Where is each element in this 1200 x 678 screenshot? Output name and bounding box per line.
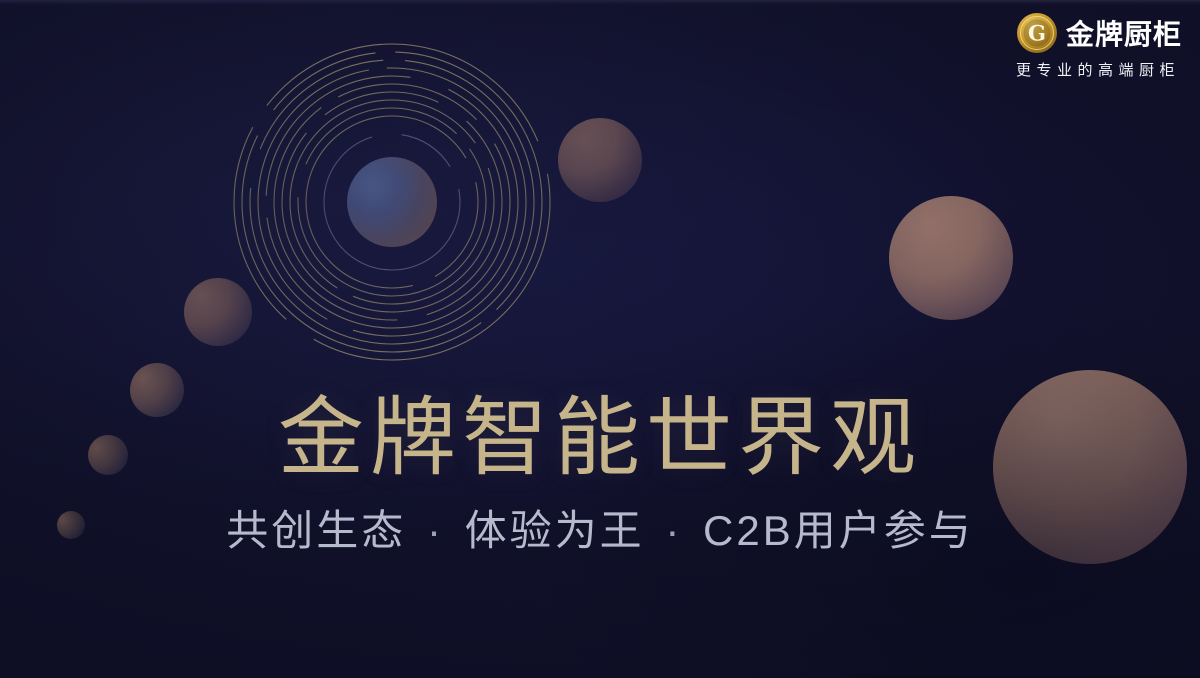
gold-circle-g-badge-icon: G bbox=[1016, 12, 1058, 54]
subtitle-separator-2: · bbox=[659, 507, 688, 554]
promo-banner: 金牌智能世界观 共创生态 · 体验为王 · C2B用户参与 bbox=[0, 0, 1200, 678]
concentric-dashed-rings-icon bbox=[232, 42, 552, 362]
sphere-top-center bbox=[558, 118, 642, 202]
brand-logo[interactable]: G 金牌厨柜 更专业的高端厨柜 bbox=[992, 10, 1182, 80]
brand-logo-row: G 金牌厨柜 bbox=[992, 10, 1182, 56]
sphere-right-upper bbox=[889, 196, 1013, 320]
brand-tagline: 更专业的高端厨柜 bbox=[992, 59, 1182, 80]
sphere-left-1 bbox=[184, 278, 252, 346]
subtitle-separator-1: · bbox=[421, 507, 450, 554]
hero-subtitle: 共创生态 · 体验为王 · C2B用户参与 bbox=[0, 507, 1200, 555]
subtitle-part-2: 体验为王 bbox=[465, 507, 645, 554]
page-title: 金牌智能世界观 bbox=[0, 392, 1200, 485]
brand-name: 金牌厨柜 bbox=[1066, 13, 1182, 53]
background-gradient bbox=[0, 0, 1200, 678]
top-light-band bbox=[0, 0, 1200, 5]
svg-text:G: G bbox=[1028, 21, 1046, 46]
subtitle-part-3: C2B用户参与 bbox=[703, 507, 974, 554]
subtitle-part-1: 共创生态 bbox=[226, 507, 406, 554]
hero-text-block: 金牌智能世界观 共创生态 · 体验为王 · C2B用户参与 bbox=[0, 392, 1200, 555]
